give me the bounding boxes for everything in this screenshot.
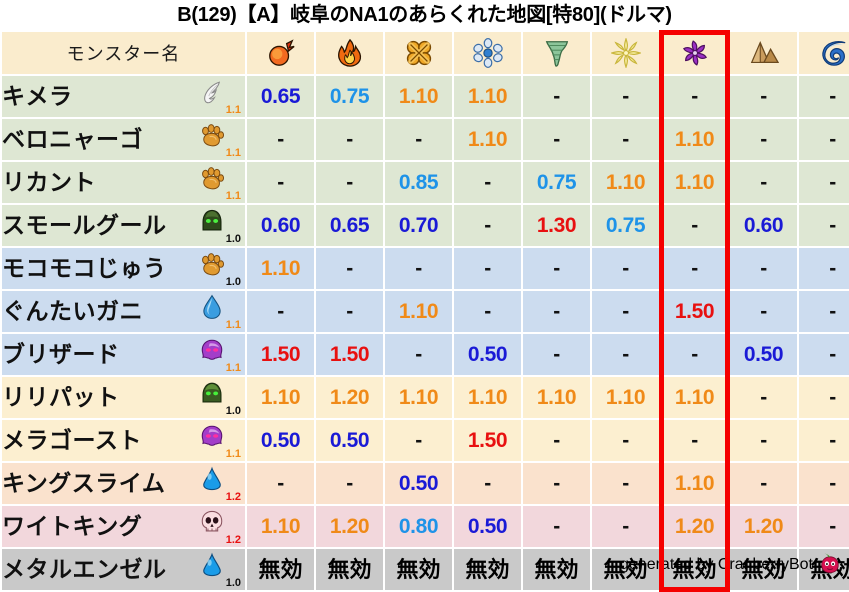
cell-io: 1.10 [385,76,452,117]
cell-mera: - [247,162,314,203]
cell-dein: - [592,334,659,375]
monster-name-cell[interactable]: ベロニャーゴ1.1 [2,119,245,160]
table-header-row: モンスター名 [2,32,849,74]
cell-mera: 1.10 [247,248,314,289]
cell-bagi: - [523,76,590,117]
cell-dein: - [592,291,659,332]
feather-icon [199,79,225,105]
cell-mera: 1.10 [247,377,314,418]
monster-level-multiplier: 1.1 [226,320,241,331]
cell-hyado: - [454,162,521,203]
monster-name-cell[interactable]: キングスライム1.2 [2,463,245,504]
column-header-hyado[interactable] [454,32,521,74]
monster-icon-group: 1.2 [195,506,243,547]
cell-doruma: 1.10 [661,162,728,203]
monster-level-multiplier: 1.1 [226,105,241,116]
monster-icon-group: 1.1 [195,162,243,203]
monster-name-label: リリパット [2,377,120,418]
monster-level-multiplier: 1.0 [226,406,241,417]
cell-medoroa: - [799,248,849,289]
cell-dein: - [592,420,659,461]
table-body: キメラ1.10.650.751.101.10-----ベロニャーゴ1.1---1… [2,76,849,590]
cell-hyado: 1.50 [454,420,521,461]
cell-gira: 1.20 [316,506,383,547]
cell-jibaria: - [730,248,797,289]
table-head: モンスター名 [2,32,849,74]
cell-mera: 1.50 [247,334,314,375]
cell-bagi: - [523,291,590,332]
cell-io: 1.10 [385,291,452,332]
cell-doruma: - [661,205,728,246]
cell-doruma: 1.20 [661,506,728,547]
monster-name-label: メラゴースト [2,420,142,461]
monster-icon-group: 1.1 [195,119,243,160]
cell-gira: - [316,162,383,203]
column-header-medoroa[interactable] [799,32,849,74]
cell-doruma: - [661,420,728,461]
column-header-jibaria[interactable] [730,32,797,74]
cell-medoroa: - [799,377,849,418]
cell-mera: 0.60 [247,205,314,246]
wave-icon [818,38,848,68]
monster-name-cell[interactable]: スモールグール1.0 [2,205,245,246]
cell-doruma: - [661,248,728,289]
resistance-table: モンスター名 キメラ1.10.650.751.101.10-----ベロニャーゴ… [0,30,849,592]
cell-gira: 0.75 [316,76,383,117]
cell-gira: 1.20 [316,377,383,418]
monster-name-cell[interactable]: キメラ1.1 [2,76,245,117]
cell-doruma: - [661,334,728,375]
cell-hyado: 1.10 [454,377,521,418]
table-row: リリパット1.01.101.201.101.101.101.101.10-- [2,377,849,418]
cell-dein: 0.75 [592,205,659,246]
resistance-matrix: モンスター名 キメラ1.10.650.751.101.10-----ベロニャーゴ… [0,30,849,592]
cell-doruma: 1.10 [661,377,728,418]
monster-name-label: キメラ [2,76,73,117]
cell-jibaria: - [730,162,797,203]
monster-name-label: スモールグール [2,205,167,246]
cell-io: 0.70 [385,205,452,246]
cell-gira: 無効 [316,549,383,590]
cell-hyado: - [454,291,521,332]
table-row: ベロニャーゴ1.1---1.10--1.10-- [2,119,849,160]
monster-level-multiplier: 1.1 [226,449,241,460]
cell-doruma: 1.50 [661,291,728,332]
ghost-icon [199,423,225,449]
table-row: ブリザード1.11.501.50-0.50---0.50- [2,334,849,375]
cell-dein: - [592,119,659,160]
blueslime-icon [199,466,225,492]
cell-dein: - [592,76,659,117]
starburst-icon [611,38,641,68]
cell-jibaria: 0.50 [730,334,797,375]
monster-name-label: メタルエンゼル [2,549,167,590]
cell-hyado: - [454,463,521,504]
cell-io: - [385,119,452,160]
monster-name-label: ぐんたいガニ [2,291,143,332]
table-row: キングスライム1.2--0.50---1.10-- [2,463,849,504]
cell-doruma: 1.10 [661,463,728,504]
cell-hyado: 1.10 [454,76,521,117]
cell-gira: 0.50 [316,420,383,461]
cell-mera: - [247,463,314,504]
cell-gira: - [316,119,383,160]
monster-icon-group: 1.1 [195,334,243,375]
column-header-monster-name: モンスター名 [2,32,245,74]
table-row: ワイトキング1.21.101.200.800.50--1.201.20- [2,506,849,547]
cell-medoroa: - [799,76,849,117]
monster-name-cell[interactable]: ぐんたいガニ1.1 [2,291,245,332]
cell-gira: - [316,248,383,289]
cell-dein: - [592,248,659,289]
paw-icon [199,122,225,148]
explosion-icon [404,38,434,68]
monster-name-cell[interactable]: リカント1.1 [2,162,245,203]
cell-io: 0.80 [385,506,452,547]
monster-level-multiplier: 1.1 [226,191,241,202]
cell-bagi: - [523,463,590,504]
footer-text: generated by CranberryBot [620,556,813,574]
monster-icon-group: 1.0 [195,549,243,590]
flame-icon [335,38,365,68]
cell-io: 0.50 [385,463,452,504]
cell-jibaria: 1.20 [730,506,797,547]
cell-gira: 1.50 [316,334,383,375]
monster-level-multiplier: 1.0 [226,277,241,288]
cell-bagi: - [523,119,590,160]
cell-hyado: 0.50 [454,506,521,547]
monster-icon-group: 1.2 [195,463,243,504]
ghoul-icon [199,208,225,234]
cell-bagi: 1.10 [523,377,590,418]
monster-icon-group: 1.0 [195,377,243,418]
monster-name-cell[interactable]: メタルエンゼル1.0 [2,549,245,590]
cell-io: - [385,248,452,289]
monster-name-label: ワイトキング [2,506,142,547]
cell-jibaria: - [730,119,797,160]
cell-hyado: 無効 [454,549,521,590]
cell-bagi: 1.30 [523,205,590,246]
cell-jibaria: - [730,377,797,418]
monster-level-multiplier: 1.1 [226,363,241,374]
snowflake-icon [473,38,503,68]
cell-gira: - [316,291,383,332]
mountain-icon [749,38,779,68]
cell-mera: - [247,291,314,332]
monster-name-cell[interactable]: メラゴースト1.1 [2,420,245,461]
waterdrop-icon [199,294,225,320]
column-header-bagi[interactable] [523,32,590,74]
monster-icon-group: 1.1 [195,420,243,461]
greenslime-icon [199,380,225,406]
footer: generated by CranberryBot [620,551,841,579]
cell-hyado: 1.10 [454,119,521,160]
cell-medoroa: - [799,463,849,504]
paw-icon [199,165,225,191]
cell-medoroa: - [799,162,849,203]
monster-icon-group: 1.1 [195,291,243,332]
cell-bagi: - [523,334,590,375]
cell-medoroa: - [799,291,849,332]
cell-bagi: 無効 [523,549,590,590]
column-header-dein[interactable] [592,32,659,74]
monster-name-cell[interactable]: ブリザード1.1 [2,334,245,375]
monster-level-multiplier: 1.2 [226,492,241,503]
monster-name-label: モコモコじゅう [2,248,167,289]
monster-name-label: ブリザード [2,334,120,375]
cell-jibaria: - [730,76,797,117]
monster-level-multiplier: 1.0 [226,578,241,589]
cell-jibaria: 0.60 [730,205,797,246]
skull-icon [199,509,225,535]
cell-medoroa: - [799,334,849,375]
table-row: キメラ1.10.650.751.101.10----- [2,76,849,117]
cell-io: 1.10 [385,377,452,418]
monster-name-label: ベロニャーゴ [2,119,143,160]
cell-gira: 0.65 [316,205,383,246]
column-header-gira[interactable] [316,32,383,74]
monster-name-cell[interactable]: ワイトキング1.2 [2,506,245,547]
monster-name-label: キングスライム [2,463,165,504]
cell-bagi: - [523,248,590,289]
monster-level-multiplier: 1.0 [226,234,241,245]
table-row: スモールグール1.00.600.650.70-1.300.75-0.60- [2,205,849,246]
page-title: B(129)【A】岐阜のNA1のあらくれた地図[特80](ドルマ) [0,0,849,30]
cell-mera: - [247,119,314,160]
cell-doruma: - [661,76,728,117]
paw-icon [199,251,225,277]
column-header-doruma[interactable] [661,32,728,74]
cell-io: 0.85 [385,162,452,203]
ghost-icon [199,337,225,363]
cell-dein: 1.10 [592,162,659,203]
cell-gira: - [316,463,383,504]
cell-io: 無効 [385,549,452,590]
cell-medoroa: - [799,119,849,160]
cell-io: - [385,334,452,375]
cell-dein: - [592,506,659,547]
monster-name-cell[interactable]: リリパット1.0 [2,377,245,418]
monster-level-multiplier: 1.1 [226,148,241,159]
blueslime-icon [199,552,225,578]
column-header-mera[interactable] [247,32,314,74]
table-row: モコモコじゅう1.01.10-------- [2,248,849,289]
pinwheel-icon [680,38,710,68]
cell-doruma: 1.10 [661,119,728,160]
cell-mera: 1.10 [247,506,314,547]
cell-medoroa: - [799,506,849,547]
cell-jibaria: - [730,463,797,504]
cell-hyado: - [454,205,521,246]
cell-dein: 1.10 [592,377,659,418]
cell-jibaria: - [730,291,797,332]
cell-jibaria: - [730,420,797,461]
monster-name-cell[interactable]: モコモコじゅう1.0 [2,248,245,289]
table-row: メラゴースト1.10.500.50-1.50----- [2,420,849,461]
cell-bagi: - [523,506,590,547]
monster-level-multiplier: 1.2 [226,535,241,546]
cell-medoroa: - [799,205,849,246]
cell-bagi: 0.75 [523,162,590,203]
fireball-icon [266,38,296,68]
column-header-io[interactable] [385,32,452,74]
cranberry-icon [819,552,841,579]
cell-mera: 0.65 [247,76,314,117]
cell-io: - [385,420,452,461]
cell-hyado: 0.50 [454,334,521,375]
cell-dein: - [592,463,659,504]
table-row: リカント1.1--0.85-0.751.101.10-- [2,162,849,203]
monster-icon-group: 1.0 [195,248,243,289]
cell-mera: 0.50 [247,420,314,461]
table-row: ぐんたいガニ1.1--1.10---1.50-- [2,291,849,332]
tornado-icon [542,38,572,68]
monster-icon-group: 1.1 [195,76,243,117]
monster-icon-group: 1.0 [195,205,243,246]
monster-name-label: リカント [2,162,96,203]
cell-bagi: - [523,420,590,461]
cell-hyado: - [454,248,521,289]
cell-mera: 無効 [247,549,314,590]
cell-medoroa: - [799,420,849,461]
